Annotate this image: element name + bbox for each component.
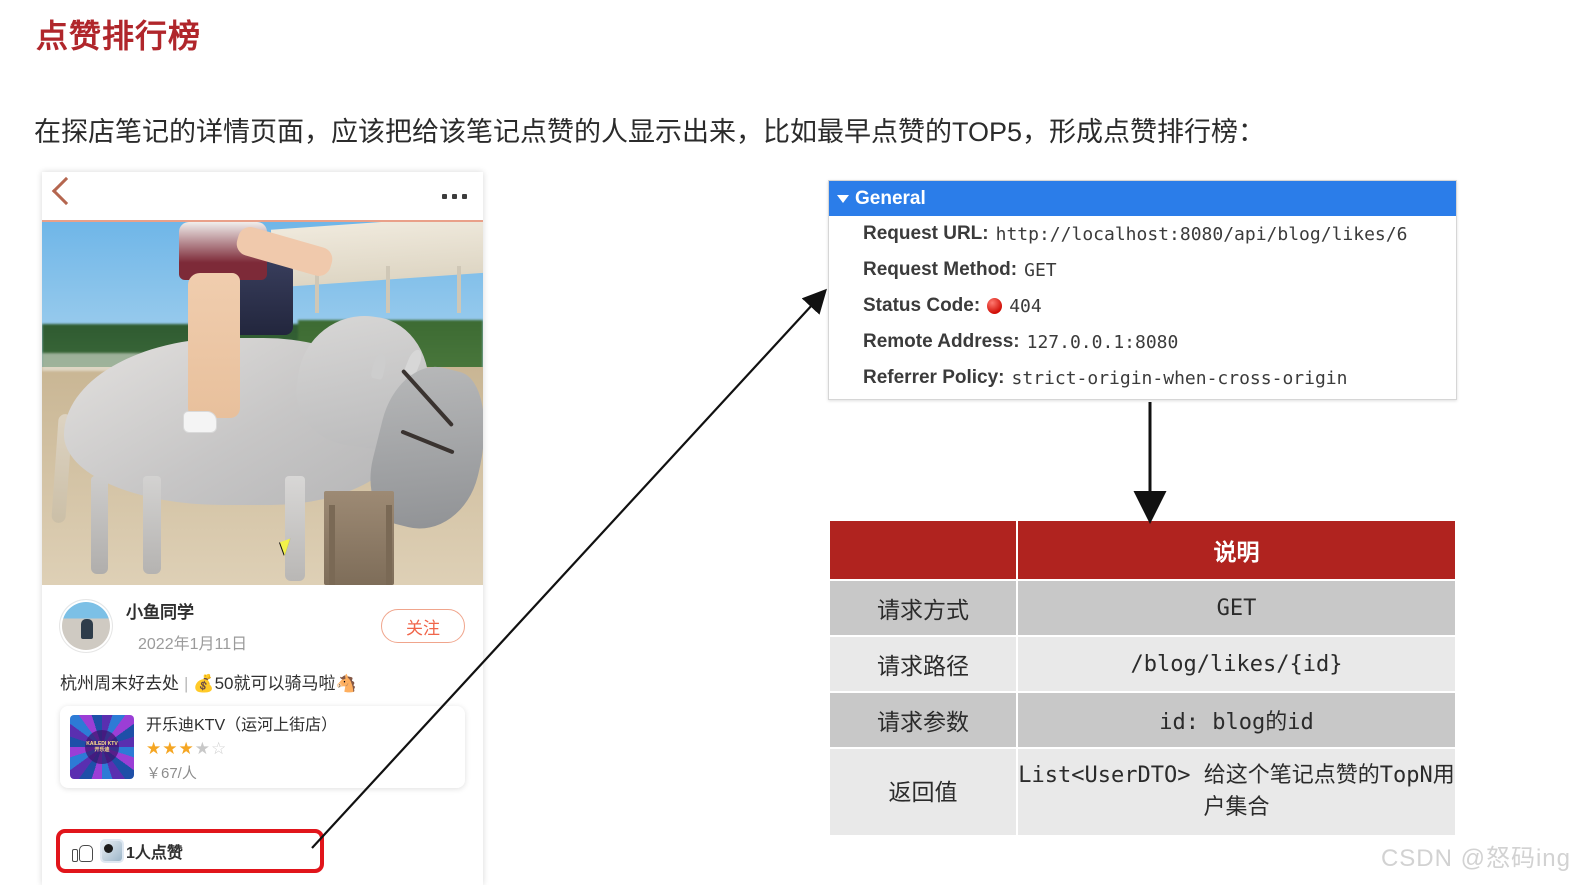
- general-row-request-url: Request URL: http://localhost:8080/api/b…: [829, 216, 1456, 252]
- row-value: 404: [1009, 296, 1042, 317]
- like-count-label: 1人点赞: [126, 839, 183, 863]
- table-row: 请求方式 GET: [830, 581, 1455, 635]
- general-row-status-code: Status Code: 404: [829, 288, 1456, 324]
- liker-avatar[interactable]: [102, 841, 122, 861]
- row-label: Remote Address:: [863, 331, 1020, 353]
- row-label: Request URL:: [863, 223, 989, 245]
- note-photo: [42, 222, 483, 585]
- table-header-description: 说明: [1018, 521, 1455, 579]
- star-grey-icon: ★: [195, 739, 211, 758]
- intro-paragraph: 在探店笔记的详情页面，应该把给该笔记点赞的人显示出来，比如最早点赞的TOP5，形…: [34, 112, 1265, 152]
- general-row-referrer-policy: Referrer Policy: strict-origin-when-cros…: [829, 360, 1456, 396]
- horse-icon: 🐴: [336, 674, 357, 693]
- avatar[interactable]: [60, 600, 112, 652]
- row-label: Referrer Policy:: [863, 367, 1005, 389]
- row-value: List<UserDTO> 给这个笔记点赞的TopN用户集合: [1018, 749, 1455, 835]
- row-value: GET: [1024, 260, 1057, 281]
- general-panel-title: General: [855, 188, 926, 210]
- shop-info: 开乐迪KTV（运河上街店） ★★★★☆ ￥67/人: [146, 711, 455, 783]
- row-value: /blog/likes/{id}: [1018, 637, 1455, 691]
- general-panel-header[interactable]: General: [829, 181, 1456, 216]
- shop-price: ￥67/人: [146, 762, 455, 783]
- star-filled-icon: ★: [162, 739, 178, 758]
- shop-thumb-line2: 开乐迪: [94, 747, 109, 753]
- author-meta: 小鱼同学 2022年1月11日: [126, 598, 247, 654]
- general-row-remote-address: Remote Address: 127.0.0.1:8080: [829, 324, 1456, 360]
- money-bag-icon: 💰: [193, 674, 214, 693]
- watermark: CSDN @怒码ing: [1381, 838, 1571, 873]
- caption-rest: 50就可以骑马啦: [215, 674, 336, 693]
- follow-button[interactable]: 关注: [381, 609, 465, 643]
- phone-mockup: 小鱼同学 2022年1月11日 关注 杭州周末好去处|💰50就可以骑马啦🐴 KA…: [42, 172, 483, 885]
- author-name: 小鱼同学: [126, 598, 247, 623]
- general-row-request-method: Request Method: GET: [829, 252, 1456, 288]
- row-key: 请求路径: [830, 637, 1016, 691]
- table-header-row: 说明: [830, 521, 1455, 579]
- note-caption: 杭州周末好去处|💰50就可以骑马啦🐴: [60, 669, 465, 694]
- star-filled-icon: ★: [179, 739, 195, 758]
- page-title: 点赞排行榜: [36, 14, 201, 58]
- row-value: GET: [1018, 581, 1455, 635]
- phone-topbar: [42, 172, 483, 222]
- row-key: 请求方式: [830, 581, 1016, 635]
- thumbs-up-icon[interactable]: [72, 840, 94, 862]
- row-value: 127.0.0.1:8080: [1027, 332, 1179, 353]
- star-filled-icon: ★: [146, 739, 162, 758]
- shop-thumbnail: KAILEDI KTV 开乐迪: [70, 715, 134, 779]
- row-label: Request Method:: [863, 259, 1017, 281]
- row-value: http://localhost:8080/api/blog/likes/6: [996, 224, 1408, 245]
- caption-main: 杭州周末好去处: [60, 674, 179, 693]
- table-header-blank: [830, 521, 1016, 579]
- table-row: 返回值 List<UserDTO> 给这个笔记点赞的TopN用户集合: [830, 749, 1455, 835]
- row-value: id: blog的id: [1018, 693, 1455, 747]
- row-value: strict-origin-when-cross-origin: [1012, 368, 1348, 389]
- api-spec-table: 说明 请求方式 GET 请求路径 /blog/likes/{id} 请求参数 i…: [828, 519, 1457, 837]
- caption-separator: |: [184, 674, 188, 693]
- shop-rating-stars: ★★★★☆: [146, 739, 455, 759]
- chevron-down-icon[interactable]: [837, 195, 849, 203]
- general-panel: General Request URL: http://localhost:80…: [828, 180, 1457, 400]
- shop-card[interactable]: KAILEDI KTV 开乐迪 开乐迪KTV（运河上街店） ★★★★☆ ￥67/…: [60, 706, 465, 788]
- like-bar-highlight[interactable]: 1人点赞: [56, 829, 324, 873]
- star-empty-icon: ☆: [211, 739, 227, 758]
- table-row: 请求路径 /blog/likes/{id}: [830, 637, 1455, 691]
- more-dots-icon[interactable]: [442, 194, 467, 199]
- status-error-dot-icon: [987, 298, 1002, 314]
- author-row: 小鱼同学 2022年1月11日 关注: [60, 595, 465, 657]
- author-date: 2022年1月11日: [138, 630, 247, 654]
- row-key: 请求参数: [830, 693, 1016, 747]
- chevron-left-icon[interactable]: [52, 177, 80, 205]
- row-label: Status Code:: [863, 295, 980, 317]
- slide-root: 点赞排行榜 在探店笔记的详情页面，应该把给该笔记点赞的人显示出来，比如最早点赞的…: [0, 0, 1585, 885]
- row-key: 返回值: [830, 749, 1016, 835]
- table-row: 请求参数 id: blog的id: [830, 693, 1455, 747]
- shop-name: 开乐迪KTV（运河上街店）: [146, 711, 455, 735]
